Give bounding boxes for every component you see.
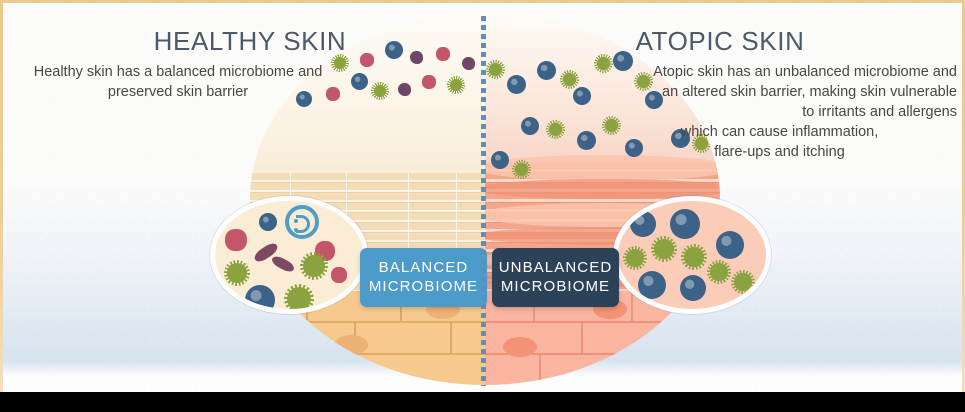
microbe-healthy [374, 85, 386, 97]
unbalanced-microbiome-label[interactable]: UNBALANCED MICROBIOME [492, 248, 619, 307]
microbe-unbalanced-inset [680, 275, 706, 301]
microbe-healthy [462, 57, 475, 70]
balanced-microbiome-label[interactable]: BALANCED MICROBIOME [360, 248, 487, 307]
atopic-desc-line3: to irritants and allergens [612, 102, 957, 122]
bottom-letterbox-band [0, 392, 965, 412]
microbe-atopic [521, 117, 539, 135]
microbe-balanced-inset [331, 267, 347, 283]
infographic-canvas: BALANCED MICROBIOME UNBALANCED MICROBIOM… [0, 0, 965, 412]
microbe-unbalanced-inset [670, 209, 700, 239]
microbe-unbalanced-inset [734, 273, 752, 291]
balanced-microbiome-inset[interactable] [210, 196, 368, 314]
healthy-desc-line1: Healthy skin has a balanced microbiome a… [34, 64, 323, 80]
microbe-balanced-inset [225, 229, 247, 251]
atopic-skin-title: ATOPIC SKIN [470, 26, 965, 57]
microbe-healthy [398, 83, 411, 96]
microbe-unbalanced-inset [710, 263, 728, 281]
microbe-atopic [549, 123, 562, 136]
atopic-skin-description: Atopic skin has an unbalanced microbiome… [612, 62, 957, 162]
microbe-healthy [422, 75, 436, 89]
microbe-atopic [537, 61, 556, 80]
microbe-balanced-inset [227, 263, 247, 283]
microbe-balanced-inset [287, 287, 311, 311]
microbe-unbalanced-inset [630, 211, 656, 237]
microbe-atopic [597, 57, 610, 70]
frame-line-left [0, 0, 3, 392]
microbe-atopic [573, 87, 591, 105]
microbe-balanced-inset [259, 213, 277, 231]
d-logo-icon [285, 205, 319, 239]
healthy-skin-title: HEALTHY SKIN [0, 26, 500, 57]
microbe-unbalanced-inset [638, 271, 666, 299]
microbe-unbalanced-inset [716, 231, 744, 259]
microbe-atopic [507, 75, 526, 94]
chip-unbalanced-line2: MICROBIOME [492, 277, 619, 296]
atopic-desc-line5: flare-ups and itching [612, 142, 957, 162]
microbe-healthy [258, 105, 273, 120]
unbalanced-microbiome-inset[interactable] [613, 196, 771, 314]
microbe-balanced-inset [303, 255, 325, 277]
microbe-unbalanced-inset [684, 247, 704, 267]
chip-balanced-line1: BALANCED [379, 259, 469, 276]
healthy-skin-description: Healthy skin has a balanced microbiome a… [8, 62, 348, 102]
chip-balanced-line2: MICROBIOME [360, 277, 487, 296]
atopic-desc-line4: which can cause inflammation, [612, 122, 957, 142]
chip-unbalanced-line1: UNBALANCED [499, 259, 613, 276]
microbe-healthy [351, 73, 368, 90]
microbe-atopic [515, 163, 528, 176]
microbe-atopic [491, 151, 509, 169]
frame-line-top [0, 0, 965, 3]
panel-divider [481, 16, 486, 386]
microbe-atopic [563, 73, 576, 86]
atopic-desc-line2: an altered skin barrier, making skin vul… [612, 82, 957, 102]
microbe-balanced-inset [270, 254, 296, 274]
microbe-unbalanced-inset [626, 249, 644, 267]
microbe-atopic [489, 63, 502, 76]
microbe-unbalanced-inset [654, 239, 674, 259]
microbe-atopic [577, 131, 596, 150]
healthy-desc-line2: preserved skin barrier [108, 84, 248, 100]
atopic-desc-line1: Atopic skin has an unbalanced microbiome… [612, 62, 957, 82]
microbe-healthy [450, 79, 462, 91]
